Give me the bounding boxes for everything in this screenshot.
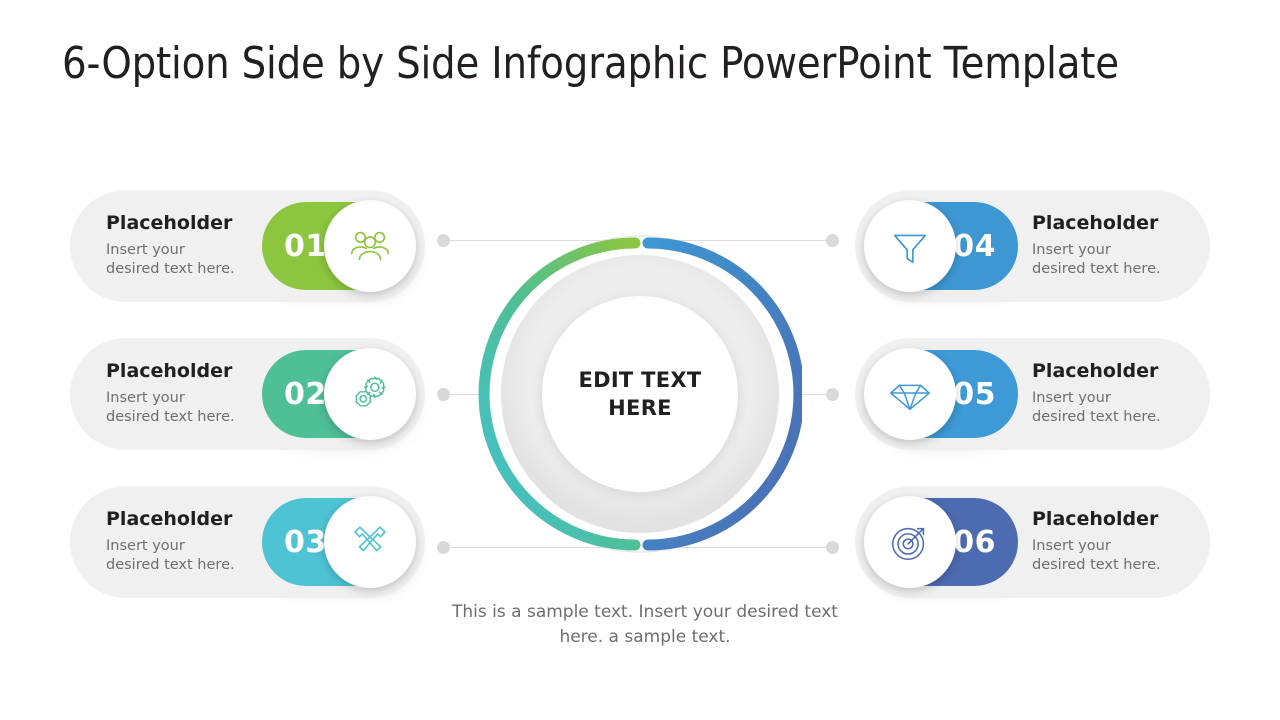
option-card-02-text: Placeholder Insert your desired text her… [70, 361, 262, 428]
center-hub-text: EDIT TEXT HERE [578, 366, 701, 423]
option-card-06-icon-bubble [864, 496, 956, 588]
option-card-05-title: Placeholder [1032, 361, 1176, 383]
option-card-06-pill[interactable]: 06 [868, 498, 1018, 586]
option-card-04-number: 04 [953, 229, 996, 264]
option-card-02-number: 02 [284, 377, 327, 412]
connector-dot-04 [826, 234, 839, 247]
option-card-04-icon-bubble [864, 200, 956, 292]
option-card-06[interactable]: Placeholder Insert your desired text her… [855, 486, 1210, 598]
option-card-04-description: Insert your desired text here. [1032, 241, 1176, 280]
center-hub[interactable]: EDIT TEXT HERE [542, 296, 738, 492]
slide-caption: This is a sample text. Insert your desir… [440, 600, 850, 649]
option-card-06-title: Placeholder [1032, 509, 1176, 531]
option-card-02[interactable]: Placeholder Insert your desired text her… [70, 338, 425, 450]
option-card-03-text: Placeholder Insert your desired text her… [70, 509, 262, 576]
option-card-06-text: Placeholder Insert your desired text her… [1018, 509, 1210, 576]
option-card-03-title: Placeholder [106, 509, 262, 531]
page-title: 6-Option Side by Side Infographic PowerP… [62, 38, 1119, 89]
option-card-01-number: 01 [284, 229, 327, 264]
option-card-05[interactable]: Placeholder Insert your desired text her… [855, 338, 1210, 450]
option-card-02-title: Placeholder [106, 361, 262, 383]
option-card-01-pill[interactable]: 01 [262, 202, 412, 290]
option-card-01-title: Placeholder [106, 213, 262, 235]
option-card-03-icon-bubble [324, 496, 416, 588]
option-card-03[interactable]: Placeholder Insert your desired text her… [70, 486, 425, 598]
connector-dot-01 [437, 234, 450, 247]
option-card-04[interactable]: Placeholder Insert your desired text her… [855, 190, 1210, 302]
option-card-04-text: Placeholder Insert your desired text her… [1018, 213, 1210, 280]
option-card-06-description: Insert your desired text here. [1032, 537, 1176, 576]
connector-dot-03 [437, 541, 450, 554]
center-ring: EDIT TEXT HERE [478, 232, 802, 556]
gears-icon [347, 371, 393, 417]
connector-dot-06 [826, 541, 839, 554]
funnel-icon [887, 223, 933, 269]
option-card-01-icon-bubble [324, 200, 416, 292]
connector-dot-02 [437, 388, 450, 401]
option-card-01[interactable]: Placeholder Insert your desired text her… [70, 190, 425, 302]
diamond-icon [887, 371, 933, 417]
option-card-04-title: Placeholder [1032, 213, 1176, 235]
option-card-04-pill[interactable]: 04 [868, 202, 1018, 290]
option-card-05-number: 05 [953, 377, 996, 412]
option-card-06-number: 06 [953, 525, 996, 560]
target-dart-icon [887, 519, 933, 565]
crossed-hammers-icon [347, 519, 393, 565]
option-card-01-description: Insert your desired text here. [106, 241, 262, 280]
option-card-05-icon-bubble [864, 348, 956, 440]
option-card-05-description: Insert your desired text here. [1032, 389, 1176, 428]
people-group-icon [347, 223, 393, 269]
option-card-03-pill[interactable]: 03 [262, 498, 412, 586]
option-card-03-number: 03 [284, 525, 327, 560]
connector-dot-05 [826, 388, 839, 401]
option-card-05-text: Placeholder Insert your desired text her… [1018, 361, 1210, 428]
option-card-02-description: Insert your desired text here. [106, 389, 262, 428]
option-card-03-description: Insert your desired text here. [106, 537, 262, 576]
option-card-01-text: Placeholder Insert your desired text her… [70, 213, 262, 280]
option-card-05-pill[interactable]: 05 [868, 350, 1018, 438]
option-card-02-icon-bubble [324, 348, 416, 440]
option-card-02-pill[interactable]: 02 [262, 350, 412, 438]
